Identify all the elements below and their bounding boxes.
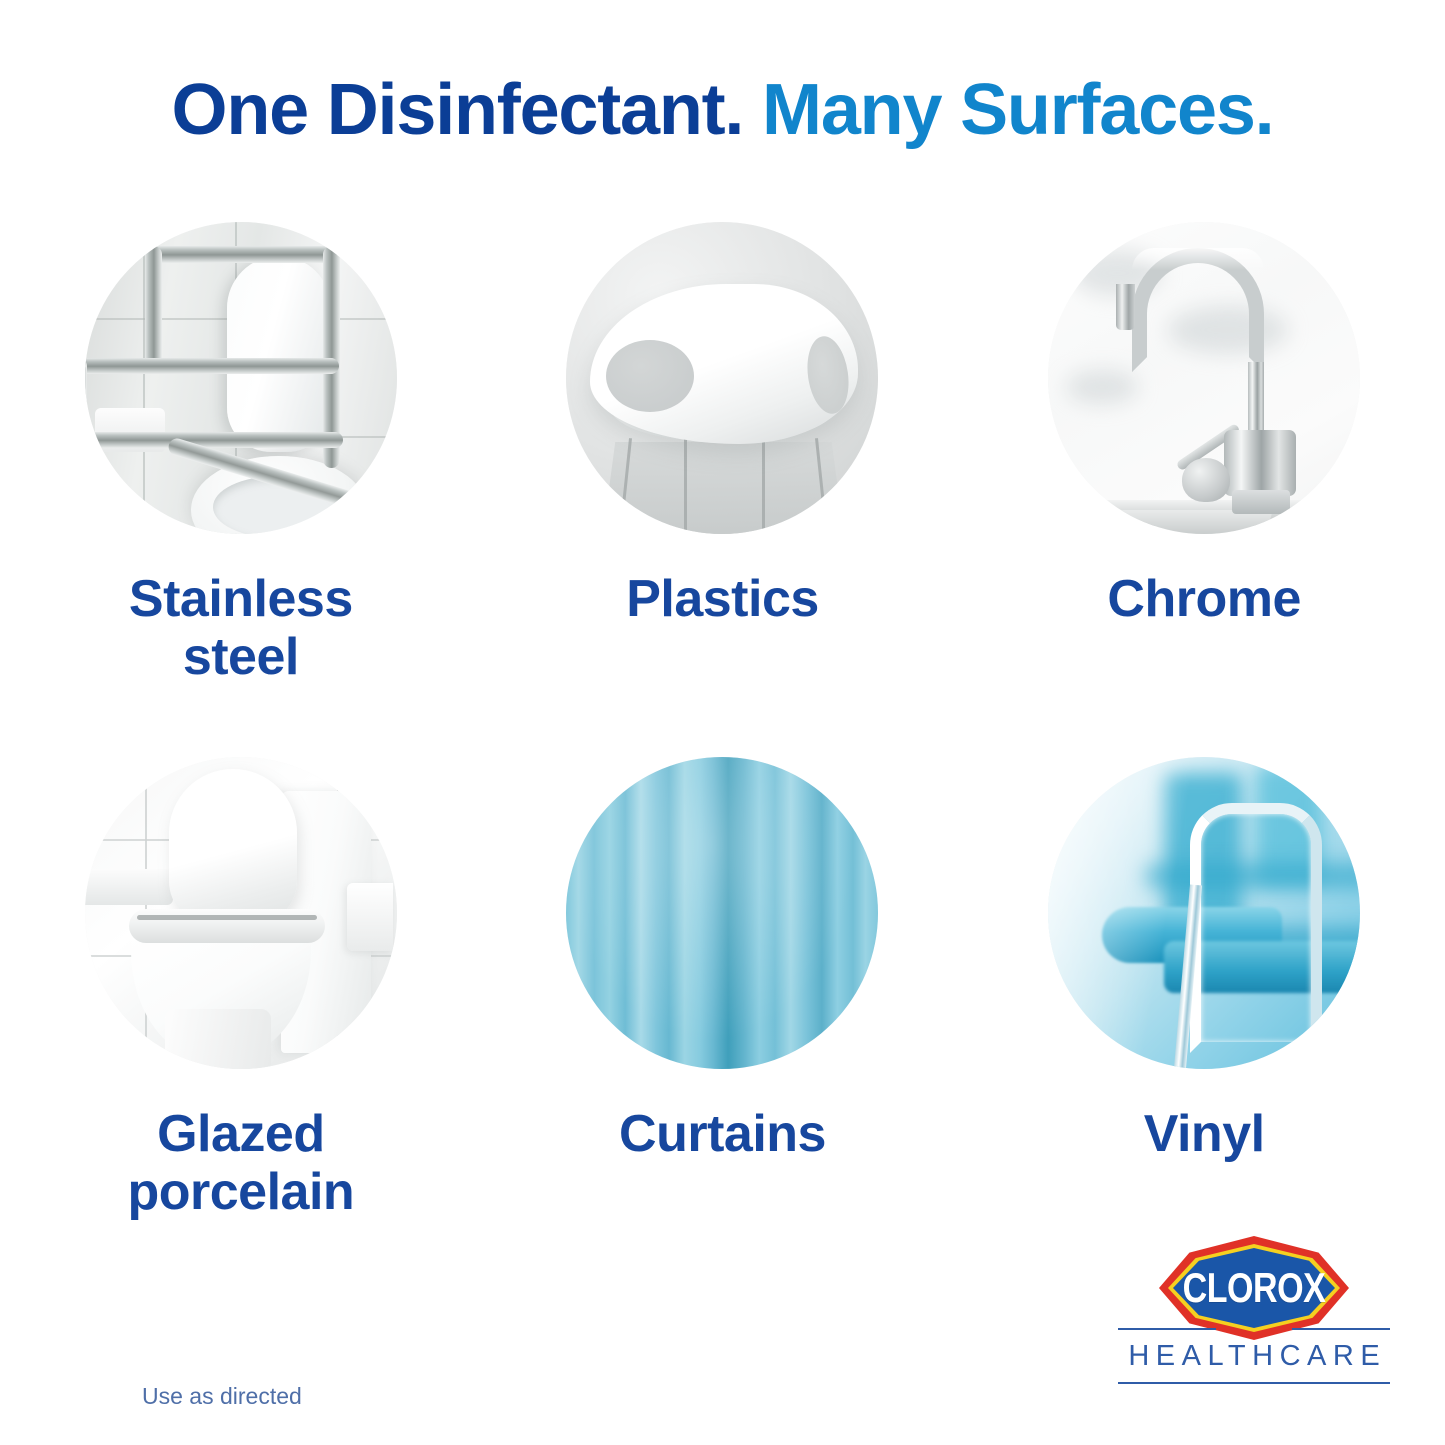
surface-label-glazed-porcelain: Glazed porcelain (127, 1105, 354, 1221)
surface-card-stainless-steel: Stainless steel (0, 222, 482, 757)
clorox-wordmark-text: CLOROX (1183, 1267, 1326, 1308)
surface-label-plastics: Plastics (626, 570, 819, 628)
plastics-image (566, 222, 878, 534)
headline-part-two: Many Surfaces. (743, 70, 1273, 150)
surface-label-chrome: Chrome (1107, 570, 1300, 628)
page-title: One Disinfectant. Many Surfaces. (0, 74, 1445, 146)
surface-label-vinyl: Vinyl (1144, 1105, 1265, 1163)
label-line-1: Glazed (157, 1105, 325, 1163)
vinyl-image (1048, 757, 1360, 1069)
healthcare-rule-bottom (1118, 1382, 1390, 1384)
clorox-wordmark: CLOROX (1176, 1270, 1331, 1307)
poster-canvas: One Disinfectant. Many Surfaces. (0, 0, 1445, 1445)
disclaimer-text: Use as directed (142, 1383, 302, 1410)
clorox-diamond-icon: CLOROX (1159, 1236, 1349, 1340)
clorox-healthcare-logo: CLOROX HEALTHCARE (1118, 1236, 1390, 1398)
label-line-2: steel (183, 628, 299, 686)
surface-card-plastics: Plastics (482, 222, 964, 757)
label-line-1: Stainless (129, 570, 353, 628)
curtains-image (566, 757, 878, 1069)
glazed-porcelain-image (85, 757, 397, 1069)
surface-grid: Stainless steel Plastics (0, 222, 1445, 1292)
surface-card-glazed-porcelain: Glazed porcelain (0, 757, 482, 1292)
chrome-image (1048, 222, 1360, 534)
surface-card-chrome: Chrome (963, 222, 1445, 757)
healthcare-wordmark: HEALTHCARE (1118, 1340, 1390, 1373)
stainless-steel-image (85, 222, 397, 534)
headline-part-one: One Disinfectant. (172, 70, 744, 150)
label-line-2: porcelain (127, 1163, 354, 1221)
surface-card-curtains: Curtains (482, 757, 964, 1292)
surface-card-vinyl: Vinyl (963, 757, 1445, 1292)
surface-label-stainless-steel: Stainless steel (129, 570, 353, 686)
surface-label-curtains: Curtains (619, 1105, 826, 1163)
healthcare-rule-top (1118, 1328, 1390, 1330)
